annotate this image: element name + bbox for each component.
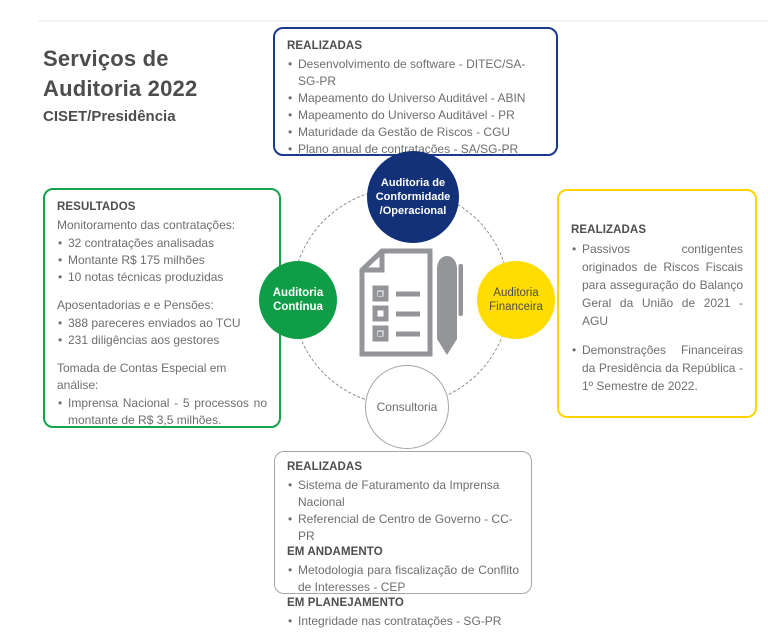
list-item: Mapeamento do Universo Auditável - PR [287, 107, 544, 124]
node-label-line-1: Auditoria [273, 286, 323, 300]
list-item: 231 diligências aos gestores [57, 332, 267, 349]
node-label-line-3: /Operacional [376, 204, 451, 218]
box-bottom-list-1: Sistema de Faturamento da Imprensa Nacio… [287, 477, 519, 545]
box-bottom-heading-1: REALIZADAS [287, 460, 519, 475]
list-item: Sistema de Faturamento da Imprensa Nacio… [287, 477, 519, 511]
callout-box-financeira: REALIZADAS Passivos contigentes originad… [557, 189, 757, 418]
list-item: 388 pareceres enviados ao TCU [57, 315, 267, 332]
box-top-list: Desenvolvimento de software - DITEC/SA-S… [287, 56, 544, 158]
node-label-line-2: Conformidade [376, 190, 451, 204]
box-left-group2-label: Aposentadorias e e Pensões: [57, 297, 267, 314]
list-item: 32 contratações analisadas [57, 235, 267, 252]
title-subtitle: CISET/Presidência [43, 106, 273, 128]
callout-box-conformidade: REALIZADAS Desenvolvimento de software -… [273, 27, 558, 156]
callout-box-consultoria: REALIZADAS Sistema de Faturamento da Imp… [274, 451, 532, 594]
list-item: Maturidade da Gestão de Riscos - CGU [287, 124, 544, 141]
box-left-group3-list: Imprensa Nacional - 5 processos no monta… [57, 395, 267, 429]
list-item: Metodologia para fiscalização de Conflit… [287, 562, 519, 596]
node-consultoria[interactable]: Consultoria [365, 365, 449, 449]
title-line-2: Auditoria 2022 [43, 74, 273, 104]
box-bottom-list-3: Integridade nas contratações - SG-PR [287, 613, 519, 630]
list-item: Demonstrações Financeiras da Presidência… [571, 341, 743, 395]
node-auditoria-financeira[interactable]: Auditoria Financeira [477, 261, 555, 339]
box-left-group1-list: 32 contratações analisadas Montante R$ 1… [57, 235, 267, 286]
list-item: 10 notas técnicas produzidas [57, 269, 267, 286]
box-right-heading: REALIZADAS [571, 223, 743, 238]
page-title: Serviços de Auditoria 2022 CISET/Presidê… [43, 44, 273, 128]
top-divider [38, 20, 768, 22]
node-label-line-2: Contínua [273, 300, 323, 314]
node-auditoria-conformidade-operacional[interactable]: Auditoria de Conformidade /Operacional [367, 151, 459, 243]
box-left-group3-label: Tomada de Contas Especial em análise: [57, 360, 267, 394]
box-left-heading: RESULTADOS [57, 200, 267, 215]
spacer [57, 286, 267, 297]
node-label-line-1: Consultoria [377, 400, 438, 414]
list-item: Passivos contigentes originados de Risco… [571, 240, 743, 330]
list-item: Montante R$ 175 milhões [57, 252, 267, 269]
audit-cycle-diagram: Auditoria de Conformidade /Operacional A… [262, 148, 562, 448]
box-bottom-heading-2: EM ANDAMENTO [287, 545, 519, 560]
list-item: Mapeamento do Universo Auditável - ABIN [287, 90, 544, 107]
list-item: Imprensa Nacional - 5 processos no monta… [57, 395, 267, 429]
box-left-group2-list: 388 pareceres enviados ao TCU 231 diligê… [57, 315, 267, 349]
box-top-heading: REALIZADAS [287, 39, 544, 54]
box-right-list: Passivos contigentes originados de Risco… [571, 240, 743, 395]
callout-box-resultados: RESULTADOS Monitoramento das contrataçõe… [43, 188, 281, 428]
checklist-document-and-pen-icon [334, 248, 476, 358]
list-item: Desenvolvimento de software - DITEC/SA-S… [287, 56, 544, 90]
node-label-line-1: Auditoria [489, 286, 543, 300]
spacer [57, 349, 267, 360]
title-line-1: Serviços de [43, 44, 273, 74]
node-label-line-1: Auditoria de [376, 176, 451, 190]
list-item: Referencial de Centro de Governo - CC-PR [287, 511, 519, 545]
box-bottom-heading-3: EM PLANEJAMENTO [287, 596, 519, 611]
box-left-group1-label: Monitoramento das contratações: [57, 217, 267, 234]
node-auditoria-continua[interactable]: Auditoria Contínua [259, 261, 337, 339]
list-item: Integridade nas contratações - SG-PR [287, 613, 519, 630]
node-label-line-2: Financeira [489, 300, 543, 314]
box-bottom-list-2: Metodologia para fiscalização de Conflit… [287, 562, 519, 596]
infographic-canvas: Serviços de Auditoria 2022 CISET/Presidê… [0, 0, 768, 612]
